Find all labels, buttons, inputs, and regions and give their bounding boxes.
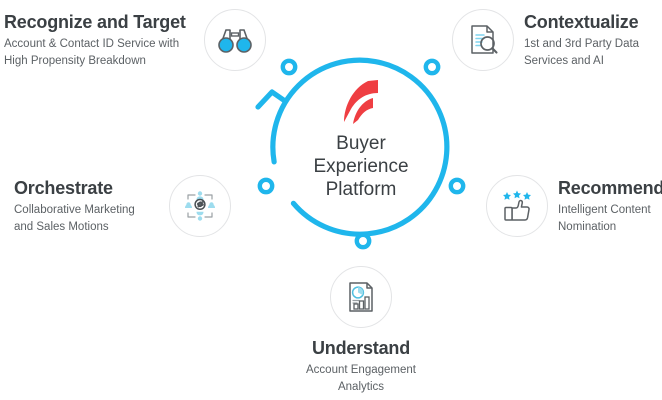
thumbs-up-stars-icon — [500, 189, 534, 223]
stage-contextualize-text: Contextualize 1st and 3rd Party Data Ser… — [524, 11, 639, 69]
binoculars-icon — [217, 24, 253, 56]
stage-recognize-title: Recognize and Target — [4, 11, 194, 33]
stage-recommend-title: Recommend — [558, 177, 662, 199]
stage-contextualize-desc-line1: 1st and 3rd Party Data — [524, 36, 639, 53]
document-search-icon — [466, 23, 500, 57]
stage-recognize-text: Recognize and Target Account & Contact I… — [4, 11, 194, 69]
stage-orchestrate-icon-bubble[interactable] — [169, 175, 231, 237]
stage-understand-text: Understand Account Engagement Analytics — [306, 337, 416, 395]
stage-recommend[interactable]: Recommend Intelligent Content Nomination — [486, 175, 662, 237]
stage-contextualize-icon-bubble[interactable] — [452, 9, 514, 71]
ring-node-orchestrate — [260, 180, 272, 192]
gear-people-icon — [183, 189, 217, 223]
buyer-experience-platform-logo — [281, 78, 441, 124]
stage-contextualize-desc-line2: Services and AI — [524, 53, 639, 70]
stage-orchestrate-desc-line2: and Sales Motions — [14, 219, 159, 236]
stage-recognize[interactable]: Recognize and Target Account & Contact I… — [4, 9, 266, 71]
stage-understand-desc-line1: Account Engagement — [306, 362, 416, 379]
stage-understand[interactable]: Understand Account Engagement Analytics — [271, 266, 451, 395]
stage-orchestrate-desc-line1: Collaborative Marketing — [14, 202, 159, 219]
stage-recognize-desc-line1: Account & Contact ID Service with — [4, 36, 194, 53]
analytics-report-icon — [344, 280, 378, 314]
ring-node-understand — [357, 235, 369, 247]
center-title-line1: Buyer — [281, 132, 441, 155]
center-title: Buyer Experience Platform — [281, 132, 441, 201]
stage-recommend-icon-bubble[interactable] — [486, 175, 548, 237]
center-title-line2: Experience — [281, 155, 441, 178]
ring-node-contextualize — [426, 61, 438, 73]
center-group: Buyer Experience Platform — [281, 78, 441, 201]
stage-orchestrate[interactable]: Orchestrate Collaborative Marketing and … — [14, 175, 231, 237]
stage-understand-desc-line2: Analytics — [306, 379, 416, 396]
stage-recommend-desc-line1: Intelligent Content — [558, 202, 662, 219]
stage-orchestrate-text: Orchestrate Collaborative Marketing and … — [14, 177, 159, 235]
center-title-line3: Platform — [281, 178, 441, 201]
ring-node-recommend — [451, 180, 463, 192]
diagram-canvas: Buyer Experience Platform Recognize and … — [0, 0, 662, 400]
stage-recommend-desc-line2: Nomination — [558, 219, 662, 236]
stage-recommend-text: Recommend Intelligent Content Nomination — [558, 177, 662, 235]
stage-recognize-desc-line2: High Propensity Breakdown — [4, 53, 194, 70]
stage-contextualize[interactable]: Contextualize 1st and 3rd Party Data Ser… — [452, 9, 639, 71]
stage-understand-title: Understand — [306, 337, 416, 359]
stage-contextualize-title: Contextualize — [524, 11, 639, 33]
stage-orchestrate-title: Orchestrate — [14, 177, 159, 199]
ring-node-recognize — [283, 61, 295, 73]
stars — [503, 191, 531, 200]
stage-understand-icon-bubble[interactable] — [330, 266, 392, 328]
stage-recognize-icon-bubble[interactable] — [204, 9, 266, 71]
